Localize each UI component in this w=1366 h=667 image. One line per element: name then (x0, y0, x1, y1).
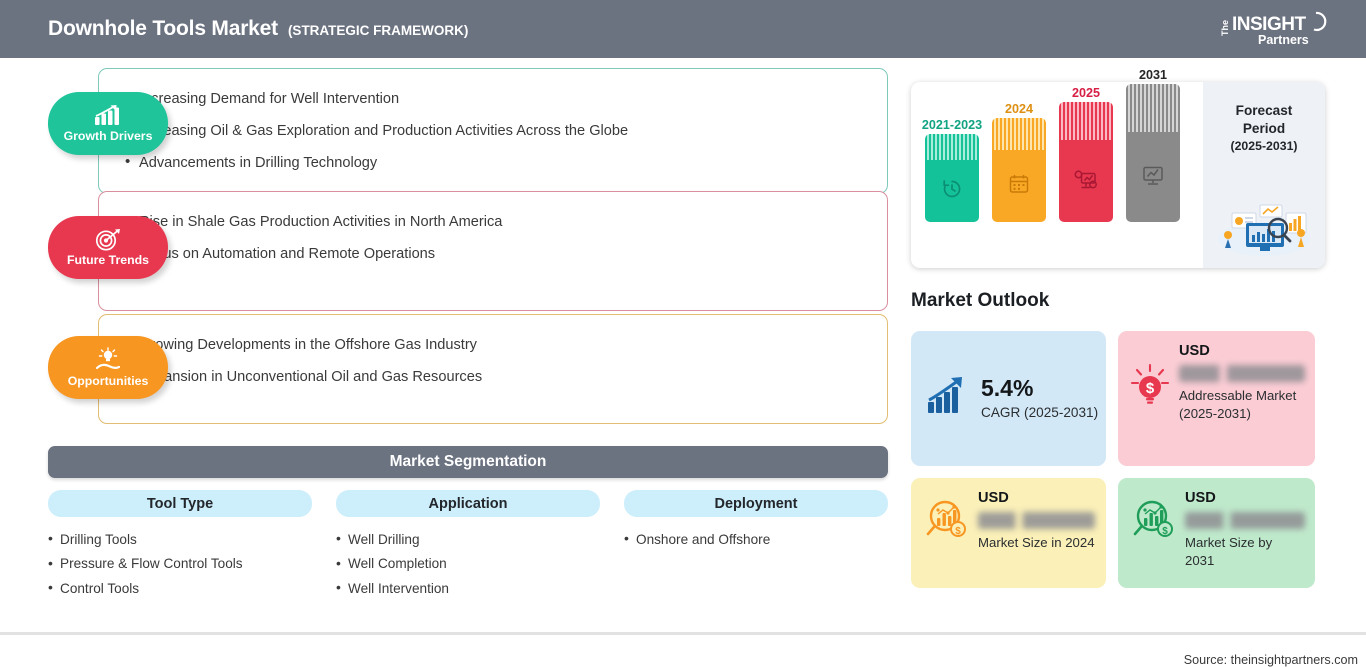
segment-column-deployment: Deployment Onshore and Offshore (624, 490, 888, 601)
cagr-value: 5.4% (981, 377, 1098, 400)
list-item: Rise in Shale Gas Production Activities … (125, 206, 887, 238)
analytics-illustration (1212, 195, 1316, 262)
source-attribution: Source: theinsightpartners.com (1184, 653, 1358, 667)
value-placeholder: lorem ipsum (978, 512, 1095, 529)
badge-opportunities[interactable]: Opportunities (48, 336, 168, 399)
list-item: Focus on Automation and Remote Operation… (125, 238, 887, 270)
bar-year-label: 2021-2023 (922, 118, 982, 132)
market-size-2024-card[interactable]: $ USD lorem ipsum Market Size in 2024 (911, 478, 1106, 588)
svg-text:Partners: Partners (1258, 33, 1309, 47)
monitor-chart-icon (1140, 163, 1166, 192)
market-size-2031-card[interactable]: $ USD lorem ipsum Market Size by 2031 (1118, 478, 1315, 588)
value-placeholder: lorem ipsum (1179, 365, 1305, 382)
bar-chart-arrow-icon (925, 375, 971, 422)
dollar-bulb-icon: $ (1130, 361, 1170, 456)
opportunities-list: Growing Developments in the Offshore Gas… (99, 315, 887, 407)
list-item: Onshore and Offshore (624, 527, 888, 552)
target-dart-icon (93, 228, 123, 252)
page-subtitle: (STRATEGIC FRAMEWORK) (288, 23, 468, 38)
usd-label: USD (978, 490, 1095, 506)
growth-drivers-list: Increasing Demand for Well Intervention … (99, 69, 887, 193)
card-caption: Market Size in 2024 (978, 534, 1095, 552)
growth-chart-icon (93, 104, 123, 128)
list-item: Pressure & Flow Control Tools (48, 552, 312, 577)
list-item: Well Completion (336, 552, 600, 577)
svg-text:$: $ (1146, 380, 1155, 397)
svg-text:The: The (1220, 20, 1230, 36)
cagr-card[interactable]: 5.4% CAGR (2025-2031) (911, 331, 1106, 466)
badge-future-trends[interactable]: Future Trends (48, 216, 168, 279)
clock-history-icon (940, 177, 964, 206)
segment-header: Tool Type (48, 490, 312, 517)
value-placeholder: lorem ipsum (1185, 512, 1305, 529)
segmentation-banner-label: Market Segmentation (390, 453, 547, 471)
list-item: Expansion in Unconventional Oil and Gas … (125, 361, 887, 393)
list-item: Growing Developments in the Offshore Gas… (125, 329, 887, 361)
forecast-card: 2021-2023 HistoricalYears (911, 82, 1325, 268)
list-item: Control Tools (48, 576, 312, 601)
calendar-icon (1007, 172, 1031, 201)
insight-partners-logo: The INSIGHT Partners (1212, 8, 1342, 50)
list-item: Increasing Demand for Well Intervention (125, 83, 887, 115)
segment-header: Application (336, 490, 600, 517)
usd-label: USD (1185, 490, 1305, 506)
list-item: Increasing Oil & Gas Exploration and Pro… (125, 115, 887, 147)
badge-label: Opportunities (68, 374, 149, 388)
forecast-period-title: ForecastPeriod (1236, 102, 1293, 137)
card-caption: Addressable Market (2025-2031) (1179, 387, 1305, 423)
market-segmentation-banner: Market Segmentation (48, 446, 888, 478)
market-outlook-title: Market Outlook (911, 290, 1049, 312)
magnifier-chart-icon: $ (923, 496, 969, 578)
list-item: Well Intervention (336, 576, 600, 601)
badge-label: Future Trends (67, 253, 149, 267)
badge-label: Growth Drivers (64, 129, 153, 143)
segment-item-list: Drilling Tools Pressure & Flow Control T… (48, 527, 312, 601)
opportunities-box: Growing Developments in the Offshore Gas… (98, 314, 888, 424)
lightbulb-hand-icon (93, 347, 123, 373)
future-trends-box: Rise in Shale Gas Production Activities … (98, 191, 888, 311)
segment-item-list: Well Drilling Well Completion Well Inter… (336, 527, 600, 601)
bar-year-label: 2025 (1072, 86, 1100, 100)
forecast-period-panel: ForecastPeriod (2025-2031) (1203, 82, 1325, 268)
list-item: Drilling Tools (48, 527, 312, 552)
segment-column-application: Application Well Drilling Well Completio… (336, 490, 600, 601)
left-column: Increasing Demand for Well Intervention … (0, 58, 900, 635)
right-column: 2021-2023 HistoricalYears (900, 58, 1366, 635)
badge-growth-drivers[interactable]: Growth Drivers (48, 92, 168, 155)
addressable-market-card[interactable]: $ USD lorem ipsum Addressable Market (20… (1118, 331, 1315, 466)
segment-header: Deployment (624, 490, 888, 517)
growth-drivers-box: Increasing Demand for Well Intervention … (98, 68, 888, 194)
bar-year-label: 2031 (1139, 68, 1167, 82)
chart-gear-icon (1073, 167, 1099, 196)
infographic-page: Downhole Tools Market (STRATEGIC FRAMEWO… (0, 0, 1366, 635)
cagr-label: CAGR (2025-2031) (981, 405, 1098, 420)
forecast-period-range: (2025-2031) (1231, 139, 1298, 153)
card-caption: Market Size by 2031 (1185, 534, 1305, 570)
segmentation-columns: Tool Type Drilling Tools Pressure & Flow… (48, 490, 888, 601)
list-item: Well Drilling (336, 527, 600, 552)
list-item: Advancements in Drilling Technology (125, 147, 887, 179)
future-trends-list: Rise in Shale Gas Production Activities … (99, 192, 887, 284)
segment-item-list: Onshore and Offshore (624, 527, 888, 552)
svg-text:$: $ (1162, 526, 1168, 537)
header-title-group: Downhole Tools Market (STRATEGIC FRAMEWO… (48, 17, 468, 41)
page-header: Downhole Tools Market (STRATEGIC FRAMEWO… (0, 0, 1366, 58)
usd-label: USD (1179, 343, 1305, 359)
svg-text:$: $ (955, 526, 961, 537)
segment-column-tool-type: Tool Type Drilling Tools Pressure & Flow… (48, 490, 312, 601)
forecast-bars: 2021-2023 HistoricalYears (911, 82, 1203, 268)
magnifier-chart-icon: $ (1130, 496, 1176, 578)
page-title: Downhole Tools Market (48, 17, 278, 41)
bar-year-label: 2024 (1005, 102, 1033, 116)
svg-text:INSIGHT: INSIGHT (1232, 14, 1306, 35)
